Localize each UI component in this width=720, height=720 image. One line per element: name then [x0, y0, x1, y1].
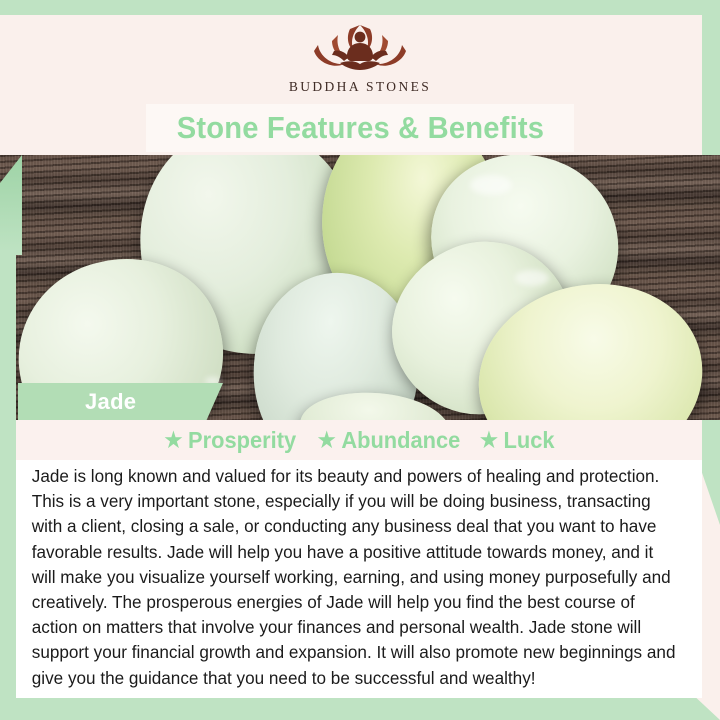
decorative-right-border-taper — [702, 430, 720, 525]
stone-name-label: Jade — [85, 389, 136, 415]
content-card: ★ Prosperity ★ Abundance ★ Luck Jade is … — [16, 420, 702, 698]
benefit-item-luck: ★ Luck — [480, 427, 555, 454]
brand-logo: BUDDHA STONES — [0, 15, 720, 105]
decorative-top-border — [0, 0, 720, 15]
star-icon: ★ — [165, 430, 183, 451]
benefit-item-prosperity: ★ Prosperity — [165, 427, 297, 454]
lotus-meditation-icon — [290, 15, 430, 77]
page-title: Stone Features & Benefits — [176, 110, 543, 146]
stone-description: Jade is long known and valued for its be… — [16, 460, 692, 691]
benefits-row: ★ Prosperity ★ Abundance ★ Luck — [16, 420, 702, 460]
benefit-item-abundance: ★ Abundance — [318, 427, 461, 454]
star-icon: ★ — [480, 430, 498, 451]
stone-highlight — [470, 175, 512, 195]
brand-name: BUDDHA STONES — [289, 79, 431, 95]
benefit-label: Luck — [504, 427, 555, 454]
infographic-page: BUDDHA STONES Stone Features & Benefits … — [0, 0, 720, 720]
stone-highlight — [515, 270, 549, 286]
decorative-left-border — [0, 250, 16, 720]
jade-stones-photo — [0, 155, 720, 420]
stone-name-badge: Jade — [18, 383, 223, 420]
benefit-label: Abundance — [341, 427, 460, 454]
title-banner: Stone Features & Benefits — [146, 104, 574, 152]
star-icon: ★ — [318, 430, 336, 451]
benefit-label: Prosperity — [188, 427, 296, 454]
